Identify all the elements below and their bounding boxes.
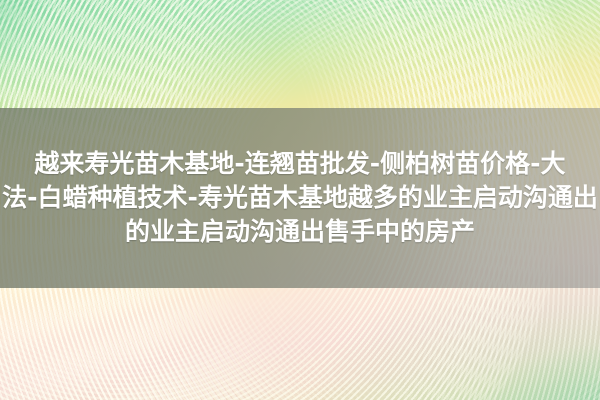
banner-clip-region: 越来寿光苗木基地-连翘苗批发-侧柏树苗价格-大 法-白蜡种植技术-寿光苗木基地越… (0, 0, 600, 400)
arc-pattern-top-left (0, 0, 570, 400)
caption-line-1: 越来寿光苗木基地-连翘苗批发-侧柏树苗价格-大 (34, 147, 565, 181)
caption-line-2-wrapper: 法-白蜡种植技术-寿光苗木基地越多的业主启动沟通出 (0, 181, 600, 215)
arc-pattern-top-right (0, 0, 600, 400)
decorative-banner: 越来寿光苗木基地-连翘苗批发-侧柏树苗价格-大 法-白蜡种植技术-寿光苗木基地越… (0, 0, 600, 400)
arc-pattern-bottom-left (0, 0, 600, 400)
caption-line-3: 的业主启动沟通出售手中的房产 (125, 215, 475, 249)
caption-block: 越来寿光苗木基地-连翘苗批发-侧柏树苗价格-大 法-白蜡种植技术-寿光苗木基地越… (0, 108, 600, 288)
background-gradient (0, 0, 600, 400)
caption-line-2: 法-白蜡种植技术-寿光苗木基地越多的业主启动沟通出 (2, 183, 598, 212)
arc-pattern-bottom-right (0, 0, 600, 400)
caption-overlay-band (0, 108, 600, 288)
